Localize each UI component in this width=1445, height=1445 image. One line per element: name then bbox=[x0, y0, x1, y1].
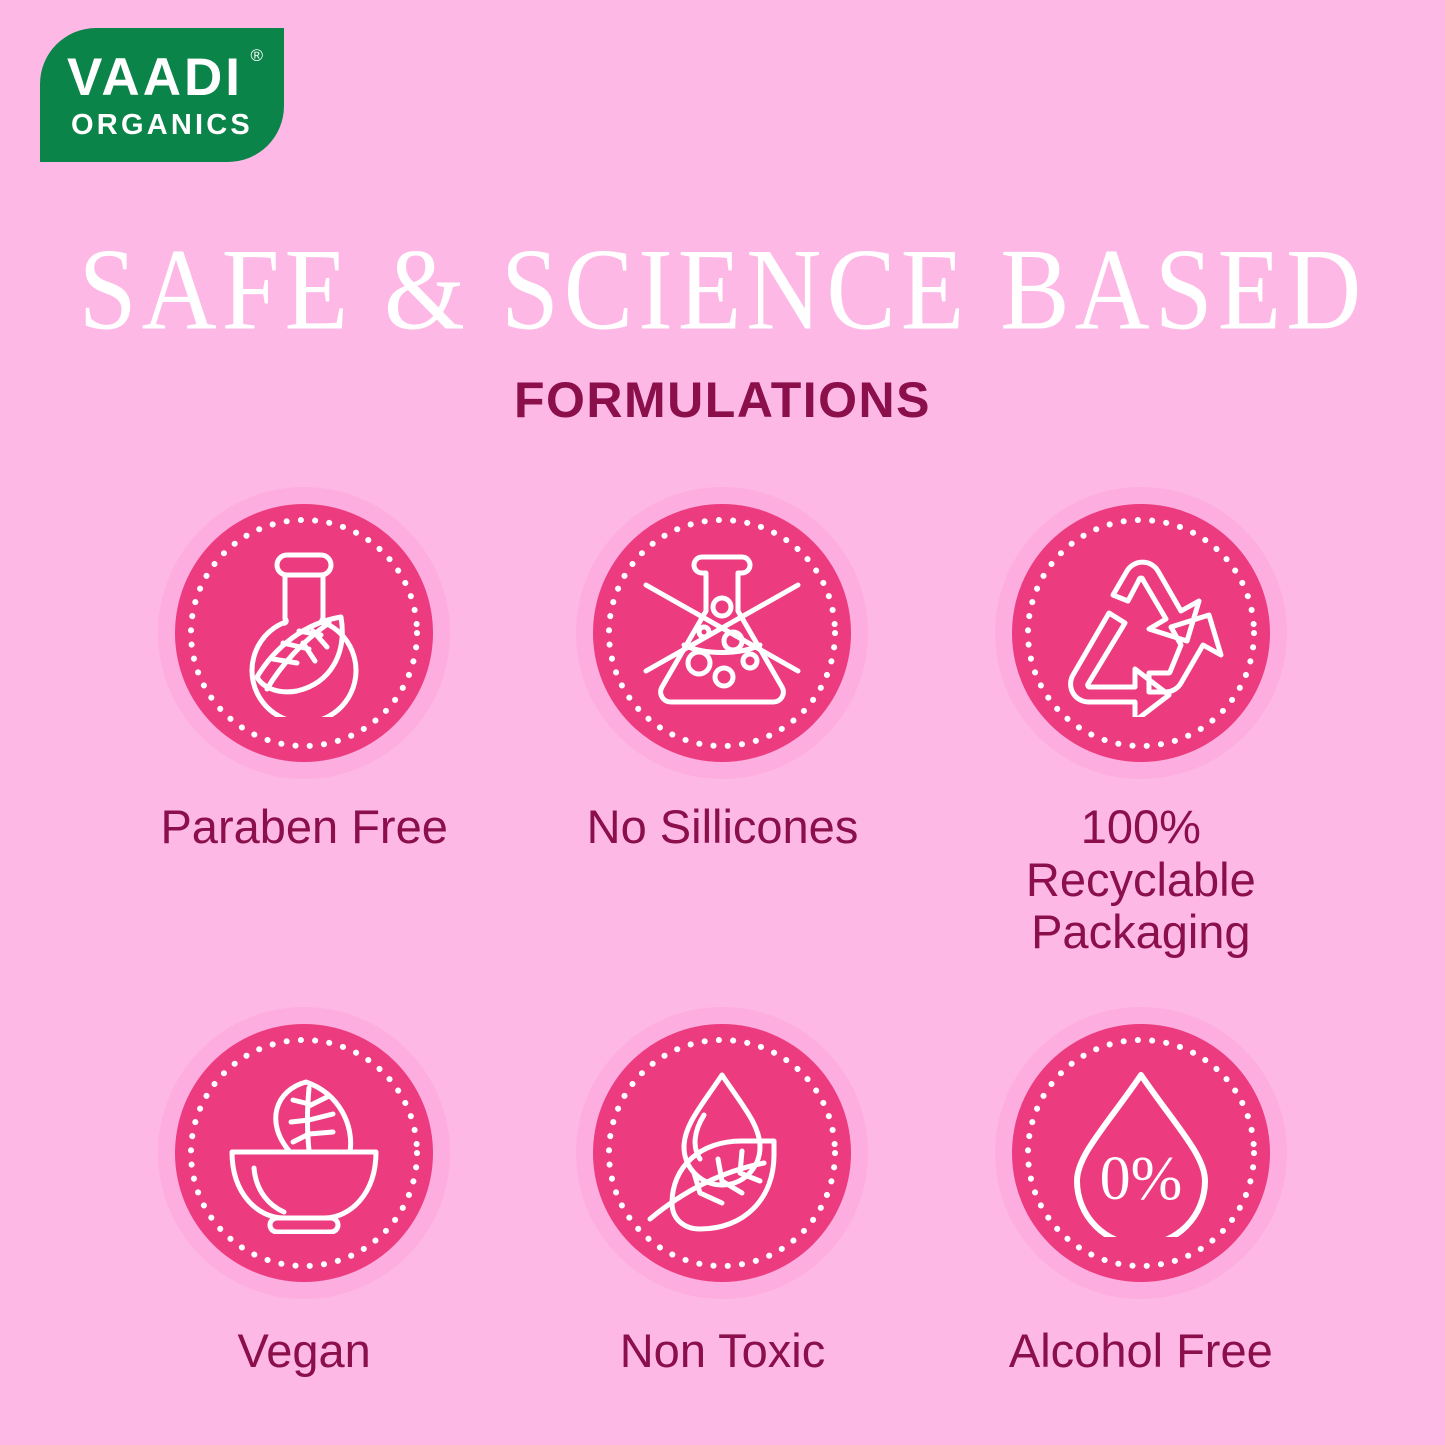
badge-circle bbox=[1012, 504, 1270, 762]
dotted-ring-icon bbox=[593, 504, 851, 762]
feature-item-recyclable-packaging: 100% Recyclable Packaging bbox=[932, 487, 1350, 959]
logo-wordmark-text: VAADI bbox=[67, 48, 243, 107]
feature-label: Paraben Free bbox=[160, 801, 447, 854]
feature-label: 100% Recyclable Packaging bbox=[976, 801, 1306, 959]
badge-wrapper bbox=[158, 1007, 450, 1299]
feature-item-no-sillicones: No Sillicones bbox=[513, 487, 931, 959]
logo-wordmark-primary: VAADI ® bbox=[67, 51, 257, 104]
badge-circle bbox=[593, 1024, 851, 1282]
feature-label: Vegan bbox=[238, 1325, 371, 1378]
badge-circle bbox=[175, 1024, 433, 1282]
brand-logo: VAADI ® ORGANICS bbox=[40, 28, 284, 162]
dotted-ring-icon bbox=[1012, 1024, 1270, 1282]
page-headline: SAFE & SCIENCE BASED bbox=[0, 232, 1445, 348]
feature-label: No Sillicones bbox=[587, 801, 859, 854]
page-subheadline: FORMULATIONS bbox=[0, 375, 1445, 425]
badge-circle: 0% bbox=[1012, 1024, 1270, 1282]
badge-wrapper bbox=[576, 487, 868, 779]
registered-trademark-icon: ® bbox=[250, 47, 263, 64]
dotted-ring-icon bbox=[175, 1024, 433, 1282]
feature-item-non-toxic: Non Toxic bbox=[513, 1007, 931, 1378]
badge-circle bbox=[175, 504, 433, 762]
feature-grid: Paraben Free bbox=[95, 487, 1350, 1378]
badge-wrapper: 0% bbox=[995, 1007, 1287, 1299]
feature-item-vegan: Vegan bbox=[95, 1007, 513, 1378]
feature-label: Alcohol Free bbox=[1009, 1325, 1273, 1378]
dotted-ring-icon bbox=[175, 504, 433, 762]
dotted-ring-icon bbox=[1012, 504, 1270, 762]
badge-circle bbox=[593, 504, 851, 762]
feature-item-paraben-free: Paraben Free bbox=[95, 487, 513, 959]
badge-wrapper bbox=[995, 487, 1287, 779]
badge-wrapper bbox=[158, 487, 450, 779]
dotted-ring-icon bbox=[593, 1024, 851, 1282]
feature-item-alcohol-free: 0% Alcohol Free bbox=[932, 1007, 1350, 1378]
badge-wrapper bbox=[576, 1007, 868, 1299]
feature-label: Non Toxic bbox=[620, 1325, 826, 1378]
logo-wordmark-secondary: ORGANICS bbox=[71, 111, 253, 140]
